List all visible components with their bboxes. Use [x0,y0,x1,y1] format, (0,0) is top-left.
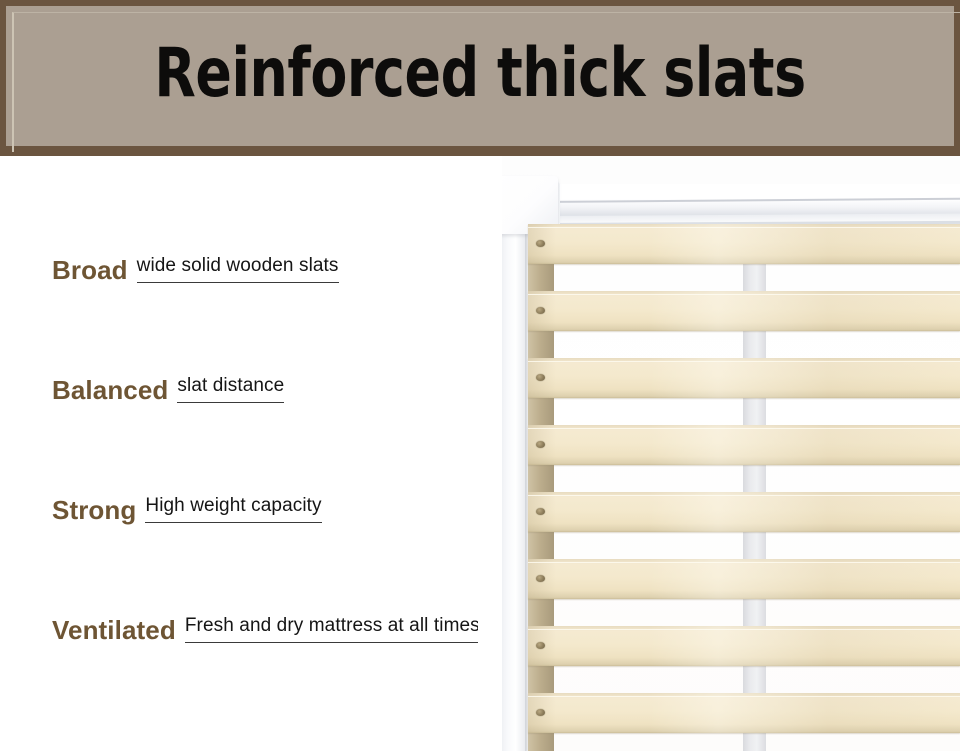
feature-desc-broad: wide solid wooden slats [137,256,339,283]
feature-item-balanced: Balanced slat distance [52,376,284,405]
feature-term-strong: Strong [52,496,136,525]
slat-wood-grain [528,559,960,599]
feature-list: Broad wide solid wooden slats Balanced s… [0,156,500,751]
slat-screw-head [536,508,545,515]
feature-term-balanced: Balanced [52,376,168,405]
wooden-slat [528,559,960,599]
slat-wood-grain [528,626,960,666]
feature-desc-strong: High weight capacity [145,496,321,523]
wooden-slat [528,291,960,331]
slat-screw-head [536,307,545,314]
slat-screw-head [536,575,545,582]
feature-item-ventilated: Ventilated Fresh and dry mattress at all… [52,616,480,645]
header-banner: Reinforced thick slats [0,0,960,156]
slat-screw-head [536,240,545,247]
slat-wood-grain [528,291,960,331]
wooden-slat [528,693,960,733]
wooden-slat [528,626,960,666]
product-feature-banner-page: Reinforced thick slats Broad wide solid … [0,0,960,751]
page-title: Reinforced thick slats [154,40,805,108]
slat-screw-head [536,374,545,381]
feature-item-broad: Broad wide solid wooden slats [52,256,339,285]
feature-desc-balanced: slat distance [177,376,284,403]
photo-left-margin [478,156,502,751]
wooden-slat [528,492,960,532]
feature-item-strong: Strong High weight capacity [52,496,322,525]
feature-term-ventilated: Ventilated [52,616,176,645]
slat-wood-grain [528,425,960,465]
slat-screw-head [536,709,545,716]
feature-desc-ventilated: Fresh and dry mattress at all times [185,616,480,643]
wooden-slats-group [478,156,960,751]
product-photo [478,156,960,751]
slat-screw-head [536,642,545,649]
slat-wood-grain [528,358,960,398]
slat-screw-head [536,441,545,448]
feature-term-broad: Broad [52,256,128,285]
slat-wood-grain [528,693,960,733]
wooden-slat [528,358,960,398]
slat-wood-grain [528,492,960,532]
slat-wood-grain [528,224,960,264]
wooden-slat [528,425,960,465]
wooden-slat [528,224,960,264]
